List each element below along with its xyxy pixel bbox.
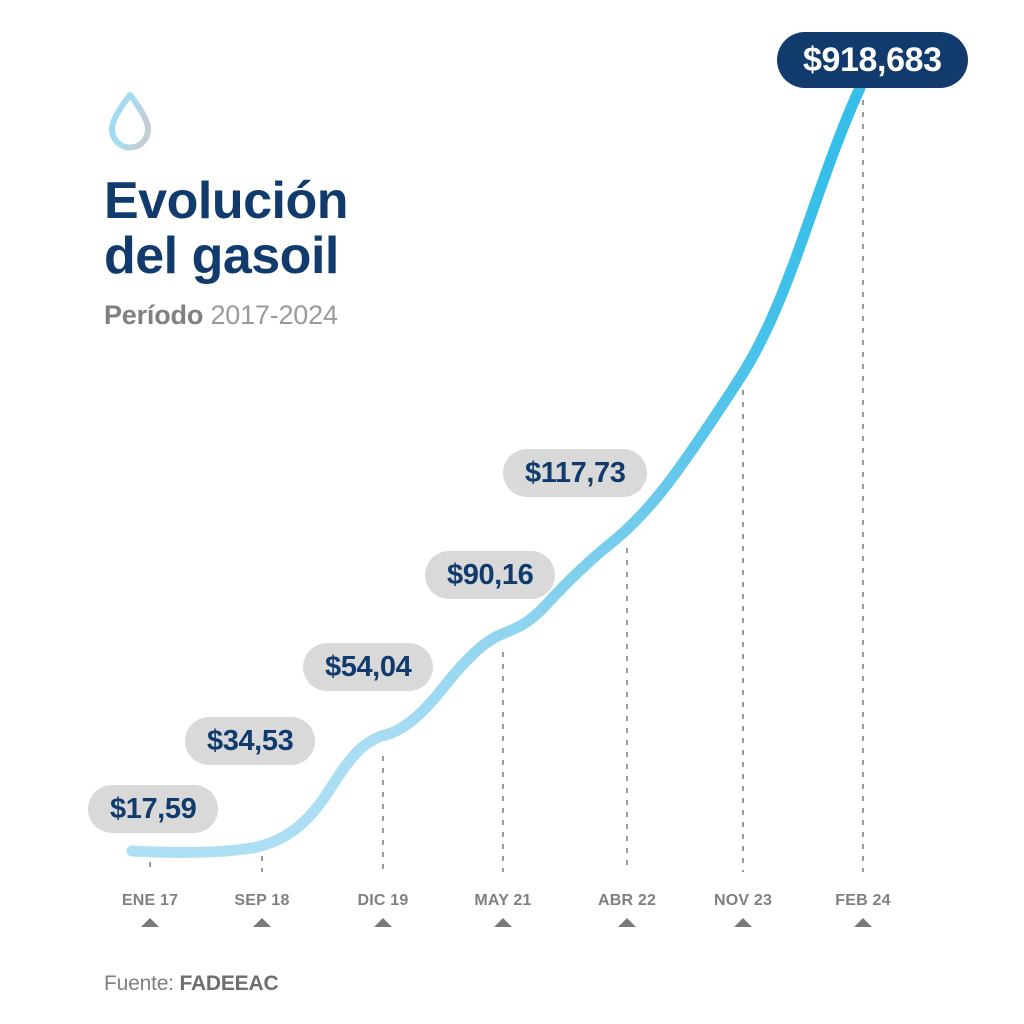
source-name: FADEEAC <box>179 972 278 995</box>
axis-arrow-icon-feb-24 <box>854 918 872 927</box>
axis-tick-label-may-21: MAY 21 <box>433 892 573 910</box>
value-pill-ene-17: $17,59 <box>88 785 218 833</box>
chart-area: $17,59 $34,53 $54,04 $90,16 $117,73 $918… <box>0 0 1024 1024</box>
value-pill-dic-19: $54,04 <box>303 643 433 691</box>
value-pill-sep-18: $34,53 <box>185 717 315 765</box>
axis-arrow-icon-abr-22 <box>618 918 636 927</box>
gasoil-evolution-line-chart <box>0 0 1024 1024</box>
axis-arrow-icon-nov-23 <box>734 918 752 927</box>
axis-tick-label-sep-18: SEP 18 <box>192 892 332 910</box>
axis-tick-label-dic-19: DIC 19 <box>313 892 453 910</box>
axis-tick-sep-18: SEP 18 <box>192 892 332 927</box>
axis-tick-nov-23: NOV 23 <box>673 892 813 927</box>
axis-arrow-icon-may-21 <box>494 918 512 927</box>
source-credit: Fuente: FADEEAC <box>104 972 278 996</box>
value-pill-abr-22: $117,73 <box>503 449 647 497</box>
axis-tick-may-21: MAY 21 <box>433 892 573 927</box>
value-pill-feb-24: $918,683 <box>777 32 968 88</box>
axis-arrow-icon-ene-17 <box>141 918 159 927</box>
axis-arrow-icon-dic-19 <box>374 918 392 927</box>
value-pill-may-21: $90,16 <box>425 551 555 599</box>
axis-tick-feb-24: FEB 24 <box>793 892 933 927</box>
source-label: Fuente: <box>104 972 174 995</box>
axis-tick-label-nov-23: NOV 23 <box>673 892 813 910</box>
axis-arrow-icon-sep-18 <box>253 918 271 927</box>
axis-tick-dic-19: DIC 19 <box>313 892 453 927</box>
infographic-canvas: Evolución del gasoil Período 2017-2024 <box>0 0 1024 1024</box>
axis-tick-label-feb-24: FEB 24 <box>793 892 933 910</box>
